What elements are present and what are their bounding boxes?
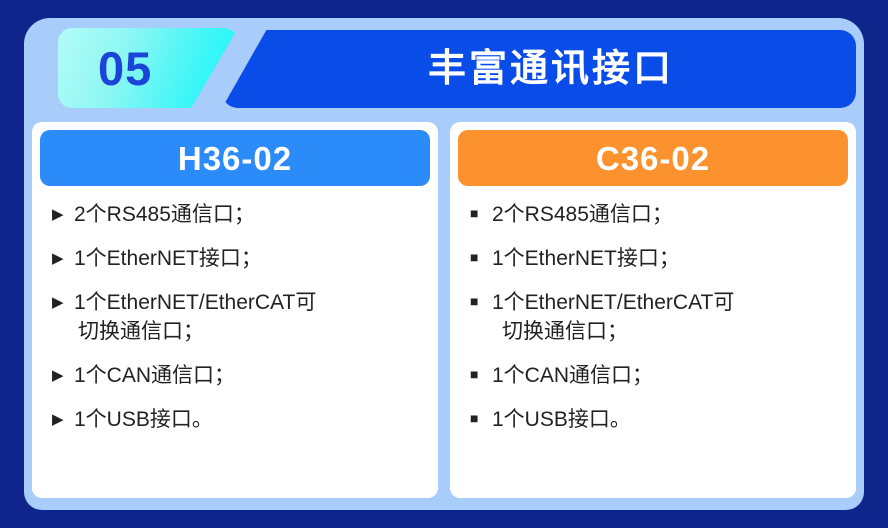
list-item: ▶ 1个CAN通信口； [52,361,420,391]
slide-root: 05 丰富通讯接口 H36-02 ▶ 2个RS485通信口； ▶ 1个Ether… [0,0,888,528]
list-item: ▶ 1个EtherNET接口； [52,244,420,274]
list-item-text: 1个USB接口。 [74,405,420,435]
card-h36-02: H36-02 ▶ 2个RS485通信口； ▶ 1个EtherNET接口； ▶ 1… [32,122,438,498]
square-bullet-icon: ■ [470,405,492,433]
square-bullet-icon: ■ [470,288,492,316]
triangle-bullet-icon: ▶ [52,361,74,391]
list-item-line1: 1个EtherNET/EtherCAT可 [74,291,316,314]
list-item-text: 2个RS485通信口； [492,200,838,230]
section-number-text: 05 [98,45,152,92]
list-item: ■ 2个RS485通信口； [470,200,838,230]
card-body-h36-02: ▶ 2个RS485通信口； ▶ 1个EtherNET接口； ▶ 1个EtherN… [40,186,430,492]
list-item-text: 1个EtherNET接口； [492,244,838,274]
cards-row: H36-02 ▶ 2个RS485通信口； ▶ 1个EtherNET接口； ▶ 1… [24,122,864,510]
card-title-h36-02: H36-02 [178,142,292,175]
list-item-text: 1个CAN通信口； [492,361,838,391]
triangle-bullet-icon: ▶ [52,405,74,435]
triangle-bullet-icon: ▶ [52,200,74,230]
card-header-c36-02: C36-02 [458,130,848,186]
list-item-text: 2个RS485通信口； [74,200,420,230]
card-header-h36-02: H36-02 [40,130,430,186]
list-item: ▶ 2个RS485通信口； [52,200,420,230]
list-item: ■ 1个EtherNET接口； [470,244,838,274]
list-item: ■ 1个CAN通信口； [470,361,838,391]
list-item-line1: 1个EtherNET/EtherCAT可 [492,291,734,314]
list-item-text: 1个EtherNET接口； [74,244,420,274]
list-item: ■ 1个USB接口。 [470,405,838,435]
list-item-line2: 切换通信口； [74,317,420,347]
list-item: ■ 1个EtherNET/EtherCAT可切换通信口； [470,288,838,348]
list-item-text: 1个USB接口。 [492,405,838,435]
list-item-text: 1个EtherNET/EtherCAT可切换通信口； [492,288,838,348]
page-title: 丰富通讯接口 [404,50,674,88]
list-item: ▶ 1个USB接口。 [52,405,420,435]
square-bullet-icon: ■ [470,244,492,272]
list-item-line2: 切换通信口； [492,317,838,347]
list-item-text: 1个CAN通信口； [74,361,420,391]
square-bullet-icon: ■ [470,361,492,389]
card-body-c36-02: ■ 2个RS485通信口； ■ 1个EtherNET接口； ■ 1个EtherN… [458,186,848,492]
list-item: ▶ 1个EtherNET/EtherCAT可切换通信口； [52,288,420,348]
card-c36-02: C36-02 ■ 2个RS485通信口； ■ 1个EtherNET接口； ■ 1… [450,122,856,498]
list-item-text: 1个EtherNET/EtherCAT可切换通信口； [74,288,420,348]
section-title-bar: 丰富通讯接口 [222,30,856,108]
square-bullet-icon: ■ [470,200,492,228]
triangle-bullet-icon: ▶ [52,288,74,318]
triangle-bullet-icon: ▶ [52,244,74,274]
card-title-c36-02: C36-02 [596,142,710,175]
